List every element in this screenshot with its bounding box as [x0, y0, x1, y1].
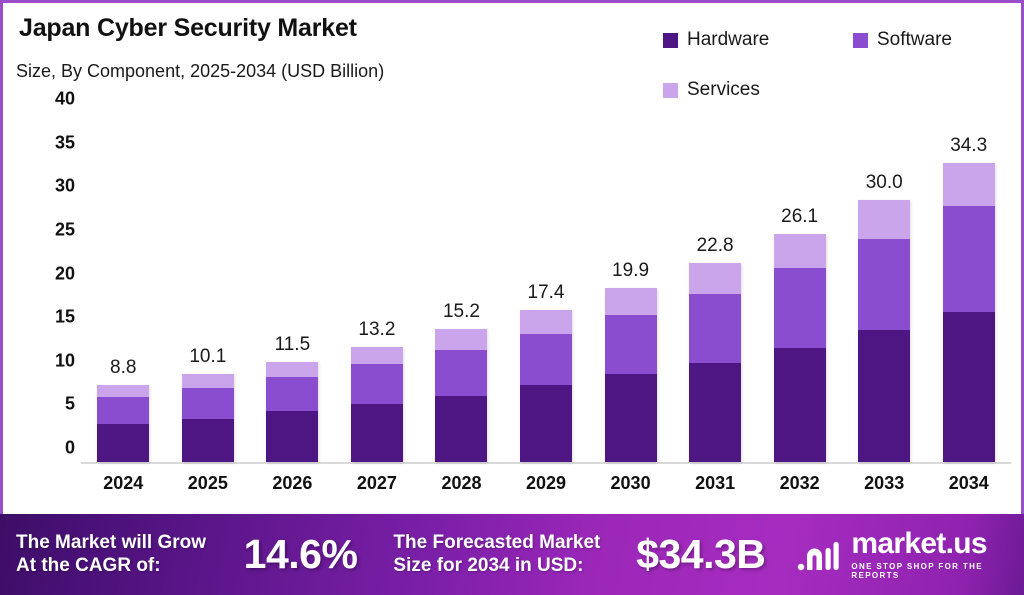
bar-segment-software[interactable] — [520, 334, 572, 385]
y-axis-tick: 10 — [55, 350, 75, 371]
x-axis-tick: 2031 — [673, 473, 758, 507]
x-axis-tick: 2027 — [335, 473, 420, 507]
logo-name: market.us — [851, 529, 1024, 559]
bar-stack[interactable] — [182, 374, 234, 462]
legend-label-services: Services — [687, 79, 760, 101]
bar-stack[interactable] — [520, 310, 572, 462]
bar-segment-services[interactable] — [182, 374, 234, 388]
y-axis-tick: 35 — [55, 132, 75, 153]
bar-total-label: 10.1 — [189, 346, 226, 368]
bar-total-label: 26.1 — [781, 206, 818, 228]
market-us-logo-icon — [797, 538, 841, 572]
bar-segment-hardware[interactable] — [774, 348, 826, 462]
bar-segment-software[interactable] — [435, 350, 487, 395]
bar-segment-services[interactable] — [97, 385, 149, 396]
bar-segment-hardware[interactable] — [182, 419, 234, 462]
legend-swatch-icon-software — [853, 33, 868, 48]
bar-segment-hardware[interactable] — [520, 385, 572, 462]
bar-total-label: 15.2 — [443, 301, 480, 323]
y-axis-tick: 0 — [65, 438, 75, 459]
cagr-label-line2: At the CAGR of: — [16, 555, 238, 577]
bar-segment-software[interactable] — [943, 206, 995, 312]
bar-group[interactable]: 26.1 — [757, 113, 842, 462]
bar-stack[interactable] — [689, 263, 741, 462]
legend-label-software: Software — [877, 29, 952, 51]
bar-segment-software[interactable] — [182, 388, 234, 419]
bar-total-label: 13.2 — [358, 319, 395, 341]
bar-group[interactable]: 17.4 — [504, 113, 589, 462]
bar-segment-hardware[interactable] — [858, 330, 910, 462]
bar-segment-hardware[interactable] — [943, 312, 995, 462]
x-axis-baseline — [81, 462, 1011, 464]
bar-segment-services[interactable] — [858, 200, 910, 238]
bar-segment-software[interactable] — [351, 364, 403, 404]
legend-row-primary: Hardware Software — [663, 29, 1003, 51]
bar-segment-hardware[interactable] — [605, 374, 657, 462]
cagr-value: 14.6% — [244, 531, 358, 578]
bar-segment-software[interactable] — [266, 377, 318, 412]
bar-stack[interactable] — [435, 329, 487, 462]
bar-segment-services[interactable] — [943, 163, 995, 206]
bar-stack[interactable] — [351, 347, 403, 462]
forecast-label: The Forecasted Market Size for 2034 in U… — [393, 532, 634, 576]
legend-item-hardware[interactable]: Hardware — [663, 29, 853, 51]
y-axis-tick: 25 — [55, 219, 75, 240]
bar-segment-services[interactable] — [689, 263, 741, 294]
bar-segment-software[interactable] — [689, 294, 741, 363]
x-axis-tick: 2025 — [166, 473, 251, 507]
bar-segment-services[interactable] — [520, 310, 572, 334]
bar-stack[interactable] — [97, 385, 149, 462]
bar-group[interactable]: 22.8 — [673, 113, 758, 462]
bar-segment-services[interactable] — [351, 347, 403, 364]
forecast-value: $34.3B — [636, 531, 765, 578]
bar-segment-software[interactable] — [97, 397, 149, 424]
x-axis-tick: 2034 — [926, 473, 1011, 507]
bar-total-label: 11.5 — [275, 334, 311, 356]
y-axis-tick: 15 — [55, 307, 75, 328]
bar-segment-hardware[interactable] — [689, 363, 741, 462]
cagr-label-line1: The Market will Grow — [16, 532, 238, 554]
x-axis-tick: 2032 — [757, 473, 842, 507]
legend-swatch-icon-hardware — [663, 33, 678, 48]
x-axis-tick: 2028 — [419, 473, 504, 507]
bar-group[interactable]: 11.5 — [250, 113, 335, 462]
market-us-logo-text: market.us ONE STOP SHOP FOR THE REPORTS — [851, 529, 1024, 580]
bar-series-container: 8.810.111.513.215.217.419.922.826.130.03… — [81, 113, 1011, 462]
y-axis-tick: 5 — [65, 394, 75, 415]
forecast-label-line2: Size for 2034 in USD: — [393, 555, 634, 577]
forecast-label-line1: The Forecasted Market — [393, 532, 634, 554]
x-axis-tick: 2024 — [81, 473, 166, 507]
bar-segment-software[interactable] — [774, 268, 826, 347]
legend-swatch-icon-services — [663, 83, 678, 98]
page-title: Japan Cyber Security Market — [19, 14, 357, 43]
bar-stack[interactable] — [774, 234, 826, 462]
logo-tagline: ONE STOP SHOP FOR THE REPORTS — [851, 562, 1024, 580]
chart-legend: Hardware Software Services — [663, 29, 1003, 101]
bar-stack[interactable] — [858, 200, 910, 462]
bar-group[interactable]: 30.0 — [842, 113, 927, 462]
bar-segment-services[interactable] — [435, 329, 487, 350]
bar-total-label: 30.0 — [866, 172, 903, 194]
bar-group[interactable]: 19.9 — [588, 113, 673, 462]
bar-group[interactable]: 34.3 — [926, 113, 1011, 462]
x-axis-tick: 2026 — [250, 473, 335, 507]
y-axis-tick: 40 — [55, 89, 75, 110]
y-axis-tick: 20 — [55, 263, 75, 284]
market-us-logo[interactable]: market.us ONE STOP SHOP FOR THE REPORTS — [797, 529, 1024, 580]
bar-stack[interactable] — [943, 163, 995, 462]
bar-stack[interactable] — [605, 288, 657, 462]
legend-label-hardware: Hardware — [687, 29, 769, 51]
bar-segment-hardware[interactable] — [97, 424, 149, 462]
bar-segment-services[interactable] — [774, 234, 826, 268]
bar-segment-software[interactable] — [858, 239, 910, 331]
legend-item-services[interactable]: Services — [663, 79, 1003, 101]
bar-segment-hardware[interactable] — [351, 404, 403, 462]
bar-total-label: 19.9 — [612, 260, 649, 282]
x-axis-tick: 2030 — [588, 473, 673, 507]
bar-total-label: 8.8 — [110, 357, 136, 379]
bar-total-label: 17.4 — [528, 282, 565, 304]
bar-segment-software[interactable] — [605, 315, 657, 374]
bar-segment-services[interactable] — [605, 288, 657, 314]
bar-group[interactable]: 8.8 — [81, 113, 166, 462]
legend-item-software[interactable]: Software — [853, 29, 952, 51]
bar-segment-hardware[interactable] — [266, 411, 318, 462]
bar-group[interactable]: 13.2 — [335, 113, 420, 462]
cagr-label: The Market will Grow At the CAGR of: — [16, 532, 238, 576]
page-subtitle: Size, By Component, 2025-2034 (USD Billi… — [16, 61, 384, 82]
summary-banner: The Market will Grow At the CAGR of: 14.… — [0, 514, 1024, 595]
y-axis: 0510152025303540 — [25, 99, 75, 462]
y-axis-tick: 30 — [55, 176, 75, 197]
bar-stack[interactable] — [266, 362, 318, 462]
x-axis-tick: 2033 — [842, 473, 927, 507]
bar-group[interactable]: 10.1 — [166, 113, 251, 462]
bar-group[interactable]: 15.2 — [419, 113, 504, 462]
x-axis: 2024202520262027202820292030203120322033… — [81, 473, 1011, 507]
bar-total-label: 34.3 — [950, 135, 987, 157]
bar-total-label: 22.8 — [697, 235, 734, 257]
chart-infographic: Japan Cyber Security Market Size, By Com… — [0, 0, 1024, 595]
x-axis-tick: 2029 — [504, 473, 589, 507]
bar-segment-services[interactable] — [266, 362, 318, 377]
bar-segment-hardware[interactable] — [435, 396, 487, 462]
